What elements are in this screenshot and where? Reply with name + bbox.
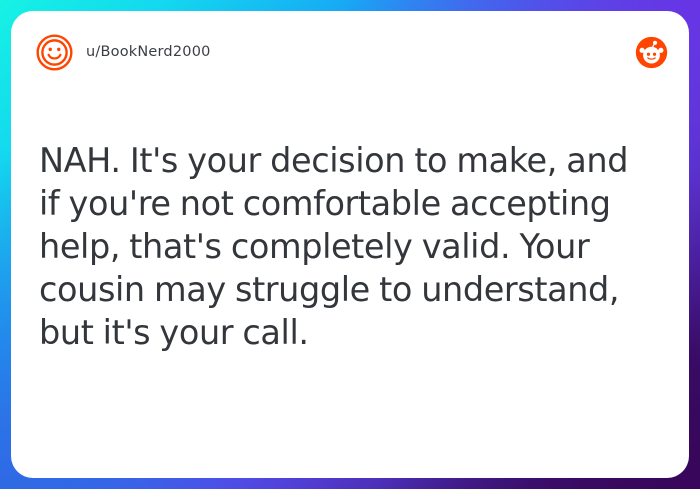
reddit-snoo-icon — [635, 36, 668, 69]
post-header: u/BookNerd2000 — [11, 11, 689, 93]
username-label: u/BookNerd2000 — [86, 44, 211, 60]
smiley-face-icon — [36, 34, 73, 71]
avatar[interactable] — [36, 34, 73, 71]
reddit-post-card: u/BookNerd2000 NAH. It's your decision t… — [11, 11, 689, 478]
screen-background: u/BookNerd2000 NAH. It's your decision t… — [0, 0, 700, 489]
post-body-text: NAH. It's your decision to make, and if … — [39, 139, 653, 354]
reddit-logo[interactable] — [635, 36, 668, 69]
